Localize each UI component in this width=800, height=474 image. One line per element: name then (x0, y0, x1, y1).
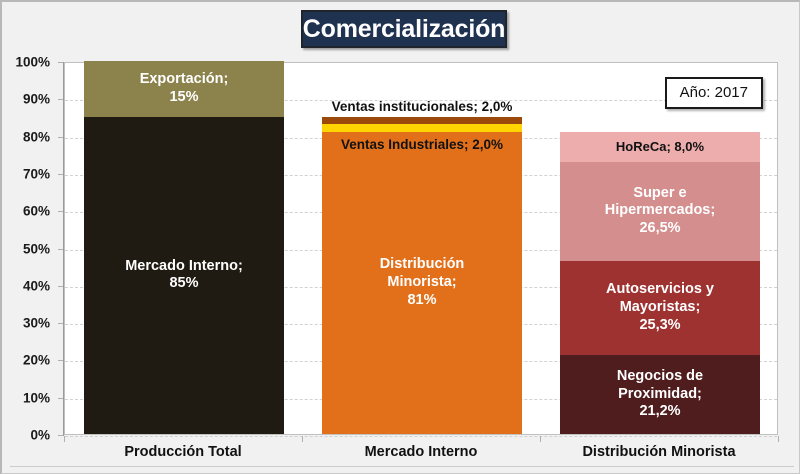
segment-label: Autoservicios y Mayoristas; 25,3% (606, 281, 714, 334)
chart-container: Comercialización 100%90%80%70%60%50%40%3… (0, 0, 800, 474)
x-axis-tick-mark (64, 436, 65, 442)
x-axis: Producción TotalMercado InternoDistribuc… (64, 436, 778, 468)
y-axis-tick-label: 10% (23, 390, 50, 405)
segment-label: Mercado Interno; 85% (125, 258, 243, 293)
chart-title: Comercialización (301, 10, 507, 48)
y-axis-tick-label: 20% (23, 353, 50, 368)
bar-column[interactable]: Distribución Minorista; 81%Ventas Indust… (322, 117, 522, 434)
x-axis-tick-mark (778, 436, 779, 442)
bar-segment[interactable]: Autoservicios y Mayoristas; 25,3% (560, 261, 760, 355)
y-axis-tick-label: 30% (23, 316, 50, 331)
chart-title-text: Comercialización (303, 15, 505, 44)
bar-segment[interactable]: Exportación; 15% (84, 61, 284, 117)
bar-column[interactable]: Negocios de Proximidad; 21,2%Autoservici… (560, 132, 760, 434)
x-axis-category-label: Producción Total (64, 436, 302, 468)
y-axis-tick-label: 100% (15, 55, 50, 70)
segment-label: HoReCa; 8,0% (616, 139, 704, 155)
bar-segment[interactable]: Ventas institucionales; 2,0% (322, 117, 522, 124)
y-axis-tick-label: 70% (23, 166, 50, 181)
bar-column[interactable]: Mercado Interno; 85%Exportación; 15% (84, 61, 284, 434)
x-axis-category-label: Distribución Minorista (540, 436, 778, 468)
x-axis-category-label: Mercado Interno (302, 436, 540, 468)
segment-label: Distribución Minorista; 81% (380, 256, 465, 309)
bar-segment[interactable]: Distribución Minorista; 81% (322, 132, 522, 434)
y-axis-tick-label: 60% (23, 204, 50, 219)
segment-label: Exportación; 15% (140, 71, 229, 106)
bar-segment[interactable]: Ventas Industriales; 2,0% (322, 124, 522, 131)
y-axis-tick-label: 90% (23, 92, 50, 107)
year-badge: Año: 2017 (665, 77, 763, 109)
x-axis-bottom-rule (10, 466, 794, 467)
segment-label: Super e Hipermercados; 26,5% (605, 185, 715, 238)
segment-label: Negocios de Proximidad; 21,2% (617, 368, 703, 421)
y-axis: 100%90%80%70%60%50%40%30%20%10%0% (2, 62, 58, 435)
y-axis-tick-label: 0% (30, 428, 50, 443)
y-axis-tick-label: 50% (23, 241, 50, 256)
bar-segment[interactable]: Super e Hipermercados; 26,5% (560, 162, 760, 261)
x-axis-tick-mark (540, 436, 541, 442)
y-axis-tick-label: 40% (23, 278, 50, 293)
bar-segment[interactable]: HoReCa; 8,0% (560, 132, 760, 162)
bar-segment[interactable]: Mercado Interno; 85% (84, 117, 284, 434)
bar-segment[interactable]: Negocios de Proximidad; 21,2% (560, 355, 760, 434)
y-axis-tick-label: 80% (23, 129, 50, 144)
plot-area: Mercado Interno; 85%Exportación; 15%Dist… (64, 62, 778, 435)
x-axis-tick-mark (302, 436, 303, 442)
